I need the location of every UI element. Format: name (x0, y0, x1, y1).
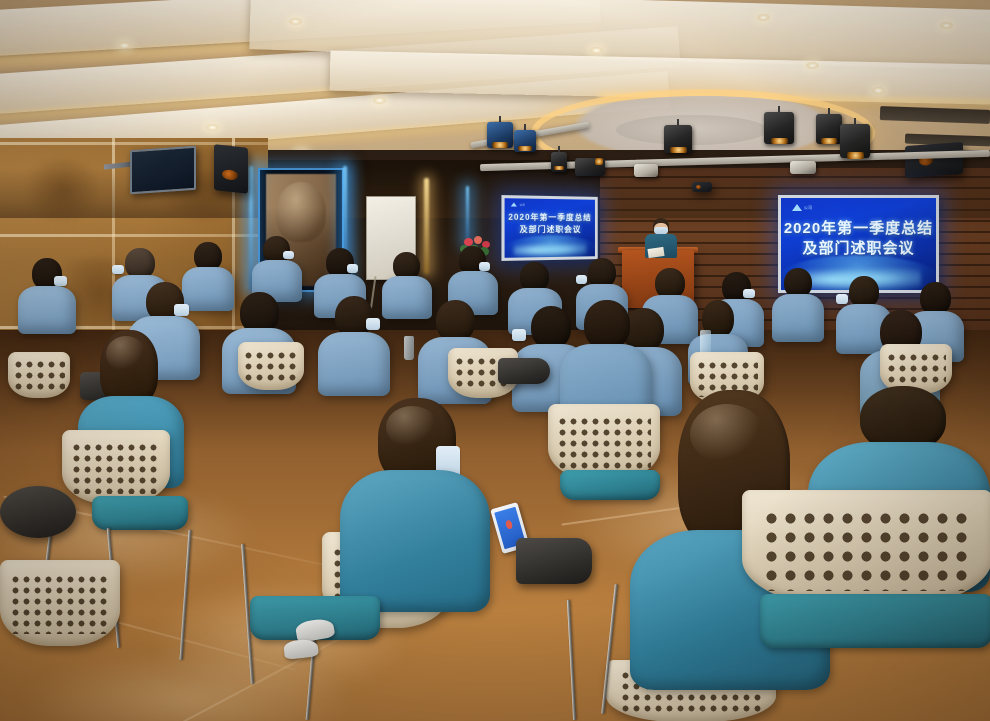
audience-member (318, 296, 390, 394)
logo-mark-icon (511, 202, 517, 206)
chair[interactable] (0, 560, 120, 646)
audience-member-with-phone (340, 398, 490, 608)
screen-title-line1: 2020年第一季度总结 (781, 217, 936, 238)
conference-hall-photo: 公司 2020年第一季度总结 及部门述职会议 公司 2020年第一季度总结 及部… (0, 0, 990, 721)
chair-back (548, 404, 660, 480)
face-mask (743, 289, 755, 298)
downlight (806, 62, 819, 69)
audience-member (252, 236, 302, 300)
downlight (206, 124, 219, 131)
chair-back (0, 560, 120, 646)
downlight (872, 87, 885, 94)
screen-logo: 公司 (511, 202, 525, 206)
chair-perforations (10, 574, 111, 634)
loudspeaker (905, 142, 963, 178)
chair[interactable] (548, 404, 660, 480)
chair[interactable] (238, 342, 304, 390)
downlight (289, 18, 302, 25)
stage-spotlight (514, 124, 536, 154)
chair-back (62, 430, 170, 504)
downlight (373, 97, 386, 104)
chair-perforations (71, 442, 162, 494)
chair-seat (92, 496, 188, 530)
screen-title-line2: 及部门述职会议 (781, 237, 936, 258)
downlight (757, 14, 770, 21)
face-mask (347, 264, 358, 273)
stage-spotlight (790, 155, 816, 175)
chair-seat (760, 594, 990, 648)
chair-back (8, 352, 70, 398)
head (335, 296, 373, 337)
face-mask (512, 329, 526, 341)
face-mask (54, 276, 67, 286)
writing-tablet-arm[interactable] (0, 486, 76, 538)
loudspeaker (214, 144, 248, 194)
stage-spotlight (840, 118, 870, 164)
face-mask (112, 265, 124, 274)
stage-spotlight (634, 158, 658, 178)
stage-spotlight (816, 108, 842, 150)
head (436, 300, 475, 342)
chair-back (238, 342, 304, 390)
ceiling-vent (880, 106, 990, 124)
audience-member (18, 258, 76, 332)
face-mask (576, 275, 587, 284)
downlight (940, 22, 953, 29)
chair[interactable] (742, 490, 990, 608)
logo-mark-icon (792, 204, 802, 211)
screen-logo: 公司 (792, 204, 813, 211)
face-mask (174, 304, 189, 316)
chair-perforations (886, 352, 946, 387)
writing-tablet-arm[interactable] (516, 538, 592, 584)
torso (772, 294, 824, 342)
stage-spotlight (551, 146, 567, 174)
loudspeaker (692, 182, 712, 192)
chair-perforations (762, 509, 972, 592)
downlight (118, 42, 131, 49)
chair[interactable] (8, 352, 70, 398)
screen-title-line1: 2020年第一季度总结 (505, 211, 595, 223)
ceiling-coffer-inner (616, 115, 768, 145)
audience-member (772, 268, 824, 340)
chair-back (742, 490, 990, 608)
face-mask (366, 318, 380, 330)
wall-mounted-monitor[interactable] (130, 146, 196, 195)
chair-perforations (13, 359, 65, 391)
torso (340, 470, 490, 612)
logo-text: 公司 (804, 205, 813, 211)
chair[interactable] (62, 430, 170, 504)
stage-spotlight (487, 116, 513, 150)
chair-seat (560, 470, 660, 500)
face-mask (283, 251, 294, 259)
secondary-projection-screen[interactable]: 公司 2020年第一季度总结 及部门述职会议 (501, 195, 597, 261)
stage-spotlight (664, 119, 692, 157)
stage-spotlight (764, 106, 794, 150)
screen-title-line2: 及部门述职会议 (505, 224, 595, 235)
chair-perforations (557, 416, 651, 469)
logo-text: 公司 (519, 203, 525, 207)
face-mask (479, 262, 490, 271)
stage-spotlight (575, 152, 605, 178)
torso (318, 332, 390, 396)
water-bottle (404, 336, 414, 360)
chair-perforations (243, 350, 298, 384)
torso (18, 286, 76, 334)
head (584, 300, 630, 350)
downlight (590, 47, 603, 54)
writing-tablet-arm[interactable] (498, 358, 550, 384)
presenter-face-mask (654, 227, 668, 234)
face-mask (836, 294, 848, 304)
